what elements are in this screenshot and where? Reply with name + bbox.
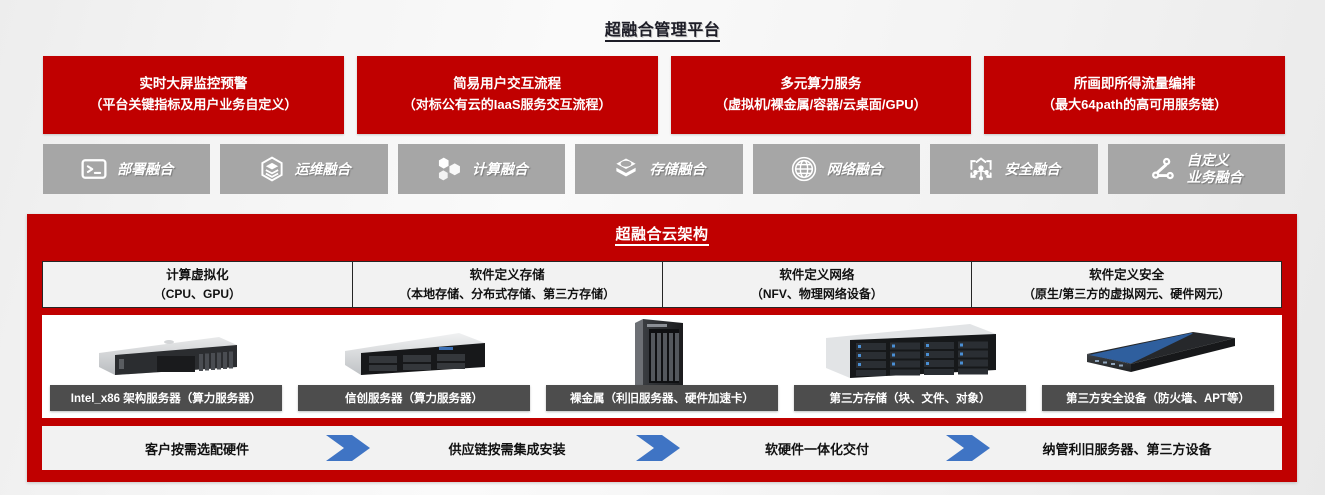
chip-custom-business-fusion[interactable]: 自定义 业务融合 <box>1108 144 1285 194</box>
capability-sub-2: （本地存储、分布式存储、第三方存储） <box>399 285 615 303</box>
chip-security-fusion[interactable]: 安全融合 <box>930 144 1097 194</box>
cube-layers-icon <box>258 155 286 183</box>
feature-subtitle-4: （最大64path的高可用服务链） <box>1042 95 1227 115</box>
capability-title-1: 计算虚拟化 <box>166 266 229 285</box>
chip-deploy-fusion[interactable]: 部署融合 <box>43 144 210 194</box>
capability-title-3: 软件定义网络 <box>779 266 854 285</box>
chip-label-network: 网络融合 <box>827 161 883 178</box>
chip-label-ops: 运维融合 <box>295 161 351 178</box>
hardware-label-x86-server: Intel_x86 架构服务器（算力服务器） <box>50 385 282 411</box>
rack-server-icon <box>42 321 290 383</box>
capability-row: 计算虚拟化 （CPU、GPU） 软件定义存储 （本地存储、分布式存储、第三方存储… <box>42 261 1282 308</box>
feature-box-1[interactable]: 实时大屏监控预警 （平台关键指标及用户业务自定义） <box>43 56 344 134</box>
chip-label-compute-l1: 计算融合 <box>472 161 528 178</box>
feature-subtitle-1: （平台关键指标及用户业务自定义） <box>89 95 297 115</box>
feature-box-2[interactable]: 简易用户交互流程 （对标公有云的IaaS服务交互流程） <box>357 56 658 134</box>
hardware-label-xinchuang-server: 信创服务器（算力服务器） <box>298 385 530 411</box>
rack-server-dark-icon <box>290 321 538 383</box>
feature-subtitle-2: （对标公有云的IaaS服务交互流程） <box>403 95 612 115</box>
globe-icon <box>790 155 818 183</box>
capability-title-4: 软件定义安全 <box>1089 266 1164 285</box>
chip-label-compute: 计算融合 <box>472 161 528 178</box>
capability-compute-virtualization[interactable]: 计算虚拟化 （CPU、GPU） <box>43 262 353 307</box>
chip-label-security: 安全融合 <box>1004 161 1060 178</box>
hardware-item-x86-server[interactable]: Intel_x86 架构服务器（算力服务器） <box>42 315 290 418</box>
chip-label-custom: 自定义 业务融合 <box>1187 152 1243 185</box>
process-step-2[interactable]: 供应链按需集成安装 <box>352 439 662 458</box>
capability-title-2: 软件定义存储 <box>470 266 545 285</box>
hardware-label-security-appliance: 第三方安全设备（防火墙、APT等） <box>1042 385 1274 411</box>
hardware-label-bare-metal: 裸金属（利旧服务器、硬件加速卡） <box>546 385 778 411</box>
capability-software-defined-storage[interactable]: 软件定义存储 （本地存储、分布式存储、第三方存储） <box>353 262 663 307</box>
chip-label-custom-l2: 业务融合 <box>1187 169 1243 186</box>
chip-label-storage: 存储融合 <box>649 161 705 178</box>
capability-sub-3: （NFV、物理网络设备） <box>751 285 883 303</box>
hardware-label-third-party-storage: 第三方存储（块、文件、对象） <box>794 385 1026 411</box>
process-step-3[interactable]: 软硬件一体化交付 <box>662 439 972 458</box>
capability-sub-1: （CPU、GPU） <box>154 285 241 303</box>
feature-box-3[interactable]: 多元算力服务 （虚拟机/裸金属/容器/云桌面/GPU） <box>671 56 972 134</box>
storage-array-icon <box>786 321 1034 383</box>
process-row: 客户按需选配硬件 供应链按需集成安装 软硬件一体化交付 纳管利旧服务器、第三方设… <box>42 426 1282 470</box>
security-appliance-icon <box>1034 321 1282 383</box>
database-stack-icon <box>612 155 640 183</box>
capability-software-defined-network[interactable]: 软件定义网络 （NFV、物理网络设备） <box>663 262 973 307</box>
feature-title-3: 多元算力服务 <box>780 74 861 95</box>
feature-title-1: 实时大屏监控预警 <box>139 74 247 95</box>
process-step-1[interactable]: 客户按需选配硬件 <box>42 439 352 458</box>
tower-server-icon <box>538 321 786 383</box>
hardware-item-third-party-storage[interactable]: 第三方存储（块、文件、对象） <box>786 315 1034 418</box>
chip-label-deploy-l1: 部署融合 <box>117 161 173 178</box>
feature-box-4[interactable]: 所画即所得流量编排 （最大64path的高可用服务链） <box>984 56 1285 134</box>
shield-network-icon <box>967 155 995 183</box>
capability-sub-4: （原生/第三方的虚拟网元、硬件网元） <box>1023 285 1230 303</box>
fusion-chip-row: 部署融合 运维融合 计算融合 存储融合 <box>43 144 1285 194</box>
feature-subtitle-3: （虚拟机/裸金属/容器/云桌面/GPU） <box>715 95 927 115</box>
hardware-item-bare-metal[interactable]: 裸金属（利旧服务器、硬件加速卡） <box>538 315 786 418</box>
architecture-panel: 超融合云架构 计算虚拟化 （CPU、GPU） 软件定义存储 （本地存储、分布式存… <box>27 214 1297 482</box>
hardware-item-xinchuang-server[interactable]: 信创服务器（算力服务器） <box>290 315 538 418</box>
chip-label-custom-l1: 自定义 <box>1187 152 1243 169</box>
chip-label-security-l1: 安全融合 <box>1004 161 1060 178</box>
feature-title-4: 所画即所得流量编排 <box>1074 74 1196 95</box>
chip-storage-fusion[interactable]: 存储融合 <box>575 144 742 194</box>
chip-label-network-l1: 网络融合 <box>827 161 883 178</box>
hardware-item-security-appliance[interactable]: 第三方安全设备（防火墙、APT等） <box>1034 315 1282 418</box>
chip-label-deploy: 部署融合 <box>117 161 173 178</box>
terminal-icon <box>80 155 108 183</box>
chip-label-ops-l1: 运维融合 <box>295 161 351 178</box>
architecture-title-text: 超融合云架构 <box>615 226 708 246</box>
hardware-row: Intel_x86 架构服务器（算力服务器） <box>42 315 1282 418</box>
chip-ops-fusion[interactable]: 运维融合 <box>220 144 387 194</box>
chip-label-storage-l1: 存储融合 <box>649 161 705 178</box>
page-title: 超融合管理平台 <box>0 16 1325 40</box>
feature-title-2: 简易用户交互流程 <box>453 74 561 95</box>
chip-network-fusion[interactable]: 网络融合 <box>753 144 920 194</box>
hexagon-cluster-icon <box>435 155 463 183</box>
process-step-4[interactable]: 纳管利旧服务器、第三方设备 <box>972 439 1282 458</box>
chip-compute-fusion[interactable]: 计算融合 <box>398 144 565 194</box>
capability-software-defined-security[interactable]: 软件定义安全 （原生/第三方的虚拟网元、硬件网元） <box>972 262 1281 307</box>
node-link-icon <box>1150 155 1178 183</box>
page-title-text: 超融合管理平台 <box>605 22 721 42</box>
architecture-title: 超融合云架构 <box>27 223 1297 244</box>
feature-row: 实时大屏监控预警 （平台关键指标及用户业务自定义） 简易用户交互流程 （对标公有… <box>43 56 1285 134</box>
